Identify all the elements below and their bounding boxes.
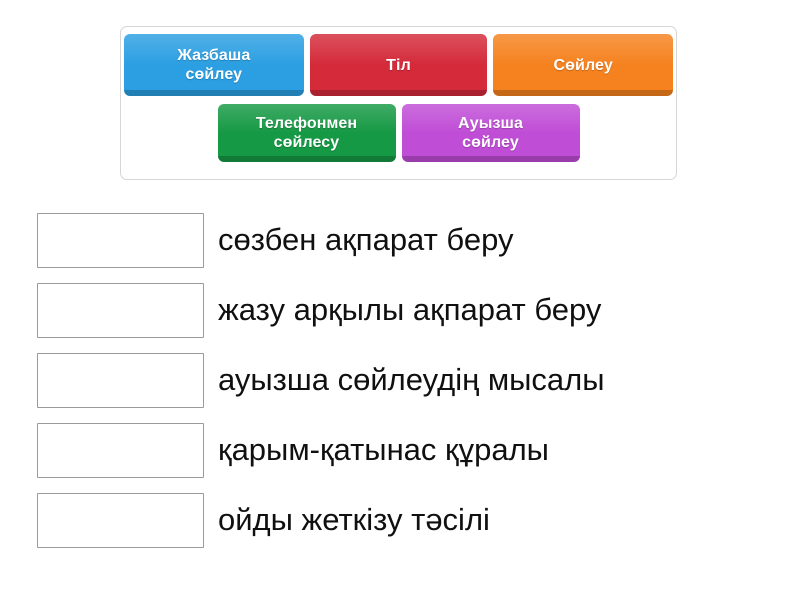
match-list: сөзбен ақпарат беру жазу арқылы ақпарат … (0, 212, 800, 562)
match-row: ойды жеткізу тәсілі (0, 492, 800, 548)
tile-zhazbasha-soileu[interactable]: Жазбаша сөйлеу (124, 34, 304, 96)
match-row: жазу арқылы ақпарат беру (0, 282, 800, 338)
tile-soileu[interactable]: Сөйлеу (493, 34, 673, 96)
tile-label: Ауызша сөйлеу (458, 114, 523, 152)
drop-zone-2[interactable] (37, 283, 204, 338)
match-row: қарым-қатынас құралы (0, 422, 800, 478)
tile-label: Жазбаша сөйлеу (177, 46, 250, 84)
drop-zone-3[interactable] (37, 353, 204, 408)
draggable-answer-tray: Жазбаша сөйлеу Тіл Сөйлеу Телефонмен сөй… (120, 26, 677, 180)
tile-row-2: Телефонмен сөйлесу Ауызша сөйлеу (121, 96, 676, 162)
prompt-text-2: жазу арқылы ақпарат беру (218, 292, 601, 328)
drop-zone-5[interactable] (37, 493, 204, 548)
match-row: ауызша сөйлеудің мысалы (0, 352, 800, 408)
prompt-text-5: ойды жеткізу тәсілі (218, 502, 490, 538)
tile-telefonmen-soilesu[interactable]: Телефонмен сөйлесу (218, 104, 396, 162)
match-row: сөзбен ақпарат беру (0, 212, 800, 268)
drop-zone-1[interactable] (37, 213, 204, 268)
drop-zone-4[interactable] (37, 423, 204, 478)
tile-label: Тіл (386, 56, 411, 75)
tile-auyzsha-soileu[interactable]: Ауызша сөйлеу (402, 104, 580, 162)
tile-label: Сөйлеу (554, 56, 613, 75)
tile-row-1: Жазбаша сөйлеу Тіл Сөйлеу (121, 27, 676, 96)
prompt-text-1: сөзбен ақпарат беру (218, 222, 513, 258)
tile-til[interactable]: Тіл (310, 34, 488, 96)
prompt-text-4: қарым-қатынас құралы (218, 432, 549, 468)
tile-label: Телефонмен сөйлесу (256, 114, 357, 152)
prompt-text-3: ауызша сөйлеудің мысалы (218, 362, 605, 398)
